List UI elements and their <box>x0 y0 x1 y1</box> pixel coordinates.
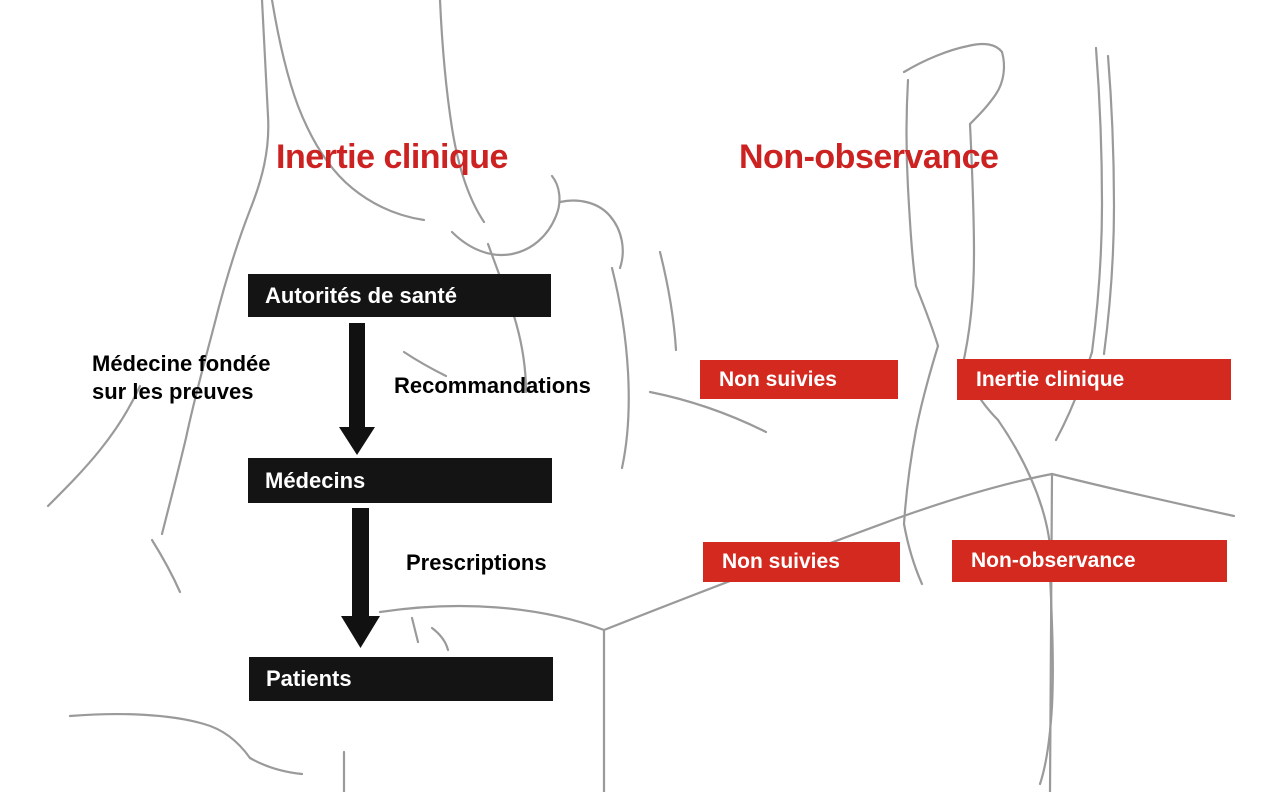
flow-box-medecins: Médecins <box>248 458 552 503</box>
flow-box-patients: Patients <box>249 657 553 701</box>
figure-canvas: Inertie clinique Non-observance Autorité… <box>0 0 1280 792</box>
label-prescriptions: Prescriptions <box>406 549 547 577</box>
label-evidence-line2: sur les preuves <box>92 378 270 406</box>
arrow-autorites-to-medecins <box>337 323 377 457</box>
outcome-box-inertie-clinique: Inertie clinique <box>957 359 1231 400</box>
label-recommandations: Recommandations <box>394 372 591 400</box>
outcome-box-non-observance: Non-observance <box>952 540 1227 582</box>
flow-box-autorites-de-sante: Autorités de santé <box>248 274 551 317</box>
label-evidence-line1: Médecine fondée <box>92 350 270 378</box>
outcome-box-non-suivies-prescriptions: Non suivies <box>703 542 900 582</box>
outcome-box-non-suivies-recommandations: Non suivies <box>700 360 898 399</box>
arrow-medecins-to-patients <box>340 508 382 650</box>
label-medecine-fondee-sur-les-preuves: Médecine fondée sur les preuves <box>92 350 270 406</box>
heading-non-observance: Non-observance <box>739 138 998 177</box>
heading-inertie-clinique: Inertie clinique <box>276 138 508 177</box>
